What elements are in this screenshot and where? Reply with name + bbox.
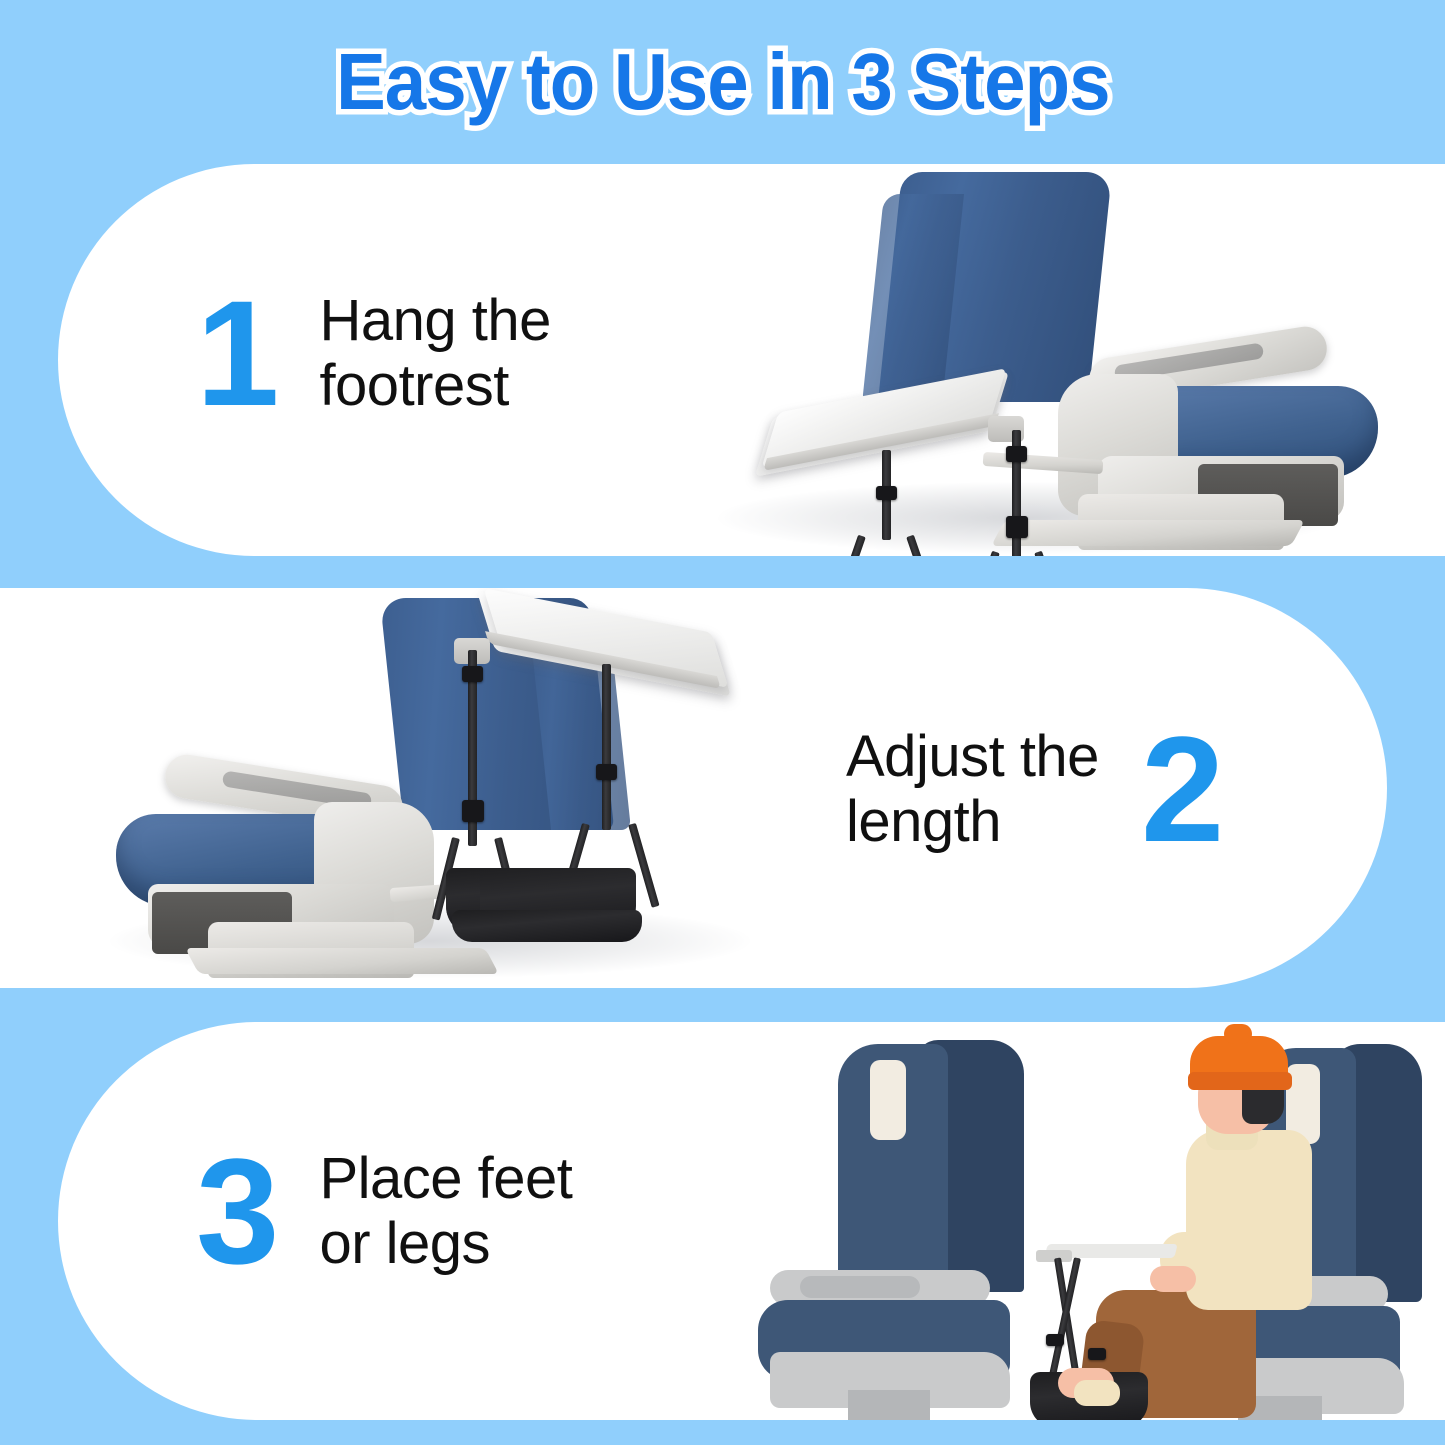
front-seat-armrest-inner [800, 1276, 920, 1298]
step-1-label-line1: Hang the [319, 289, 550, 354]
step-1-text: 1 Hang the footrest [196, 286, 551, 421]
step-card-1: 1 Hang the footrest [58, 164, 1445, 556]
step-1-label-line2: footrest [319, 354, 550, 419]
step-2-label: Adjust the length [846, 725, 1099, 855]
passenger-beanie-brim [1188, 1072, 1292, 1090]
strap-right-buckle-upper [1006, 446, 1027, 462]
step-3-label-line2: or legs [319, 1212, 572, 1277]
strap-left-buckle-lower [462, 800, 484, 822]
seat-foot-rail [991, 520, 1305, 546]
strap-left-buckle [876, 486, 897, 500]
step-3-label-line1: Place feet [319, 1147, 572, 1212]
page-header: Easy to Use in 3 Steps [0, 0, 1445, 164]
illustration-strap-buckle-left [1046, 1334, 1064, 1346]
seat-foot-rail [185, 948, 499, 974]
step-3-number: 3 [196, 1144, 277, 1279]
step-2-number: 2 [1141, 722, 1222, 857]
passenger-beanie-pom [1224, 1024, 1252, 1044]
passenger-hand [1150, 1266, 1196, 1292]
step-3-label: Place feet or legs [319, 1147, 572, 1277]
step-1-number: 1 [196, 286, 277, 421]
illustration-strap-buckle-right [1088, 1348, 1106, 1360]
footrest-hammock-front [452, 910, 642, 942]
page-title: Easy to Use in 3 Steps [336, 42, 1109, 122]
step-card-3: 3 Place feet or legs [58, 1022, 1445, 1420]
step-2-label-line2: length [846, 790, 1099, 855]
step-2-text: Adjust the length 2 [846, 722, 1222, 857]
illustration-sock [1074, 1380, 1120, 1406]
front-seat-headrest-pad [870, 1060, 906, 1140]
strap-right-vertical [602, 664, 611, 830]
strap-right-buckle [596, 764, 617, 780]
step-1-label: Hang the footrest [319, 289, 550, 419]
step-2-label-line1: Adjust the [846, 725, 1099, 790]
front-seat-pedestal [848, 1390, 930, 1420]
step-3-text: 3 Place feet or legs [196, 1144, 572, 1279]
step-card-2: Adjust the length 2 [0, 588, 1387, 988]
strap-right-buckle-lower [1006, 516, 1028, 538]
strap-left-buckle-upper [462, 666, 483, 682]
